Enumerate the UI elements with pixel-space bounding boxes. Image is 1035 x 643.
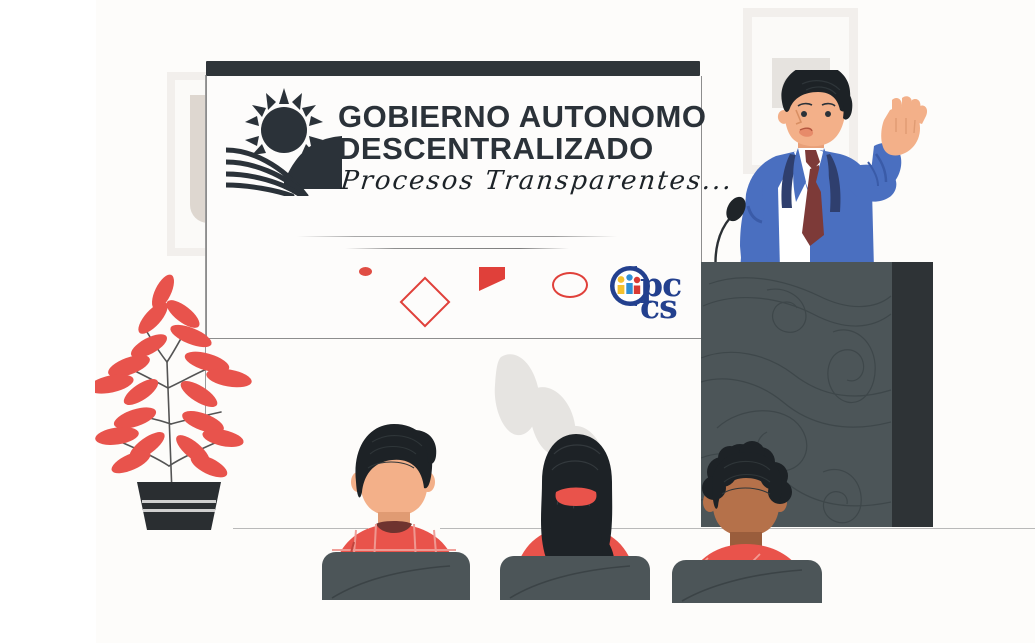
red-ellipse-shape	[552, 272, 588, 298]
screen-title-line2: DESCENTRALIZADO	[338, 133, 654, 165]
red-dot-shape	[359, 267, 372, 276]
presentation-screen: GOBIERNO AUTONOMO DESCENTRALIZADO Proces…	[206, 76, 702, 339]
audience-member-left	[310, 420, 485, 600]
screen-title-line1: GOBIERNO AUTONOMO	[338, 101, 706, 133]
cpccs-text-bottom: cs	[640, 290, 677, 323]
gooseneck-microphone	[704, 192, 758, 272]
cpccs-logo: pc cs	[607, 262, 683, 320]
sun-over-field-emblem	[226, 84, 342, 196]
red-diamond-shape	[400, 277, 451, 328]
audience-member-center	[488, 430, 663, 600]
divider-rule-upper	[297, 236, 617, 237]
audience-member-right	[660, 438, 835, 603]
screen-tagline: Procesos Transparentes...	[339, 166, 734, 196]
presentation-illustration: GOBIERNO AUTONOMO DESCENTRALIZADO Proces…	[0, 0, 1035, 643]
screen-top-bar	[206, 61, 700, 76]
potted-plant	[95, 270, 255, 532]
red-triangle-shape	[479, 267, 505, 291]
wall-left-panel	[0, 0, 96, 643]
lectern-side	[892, 262, 933, 527]
divider-rule-lower	[345, 248, 569, 249]
